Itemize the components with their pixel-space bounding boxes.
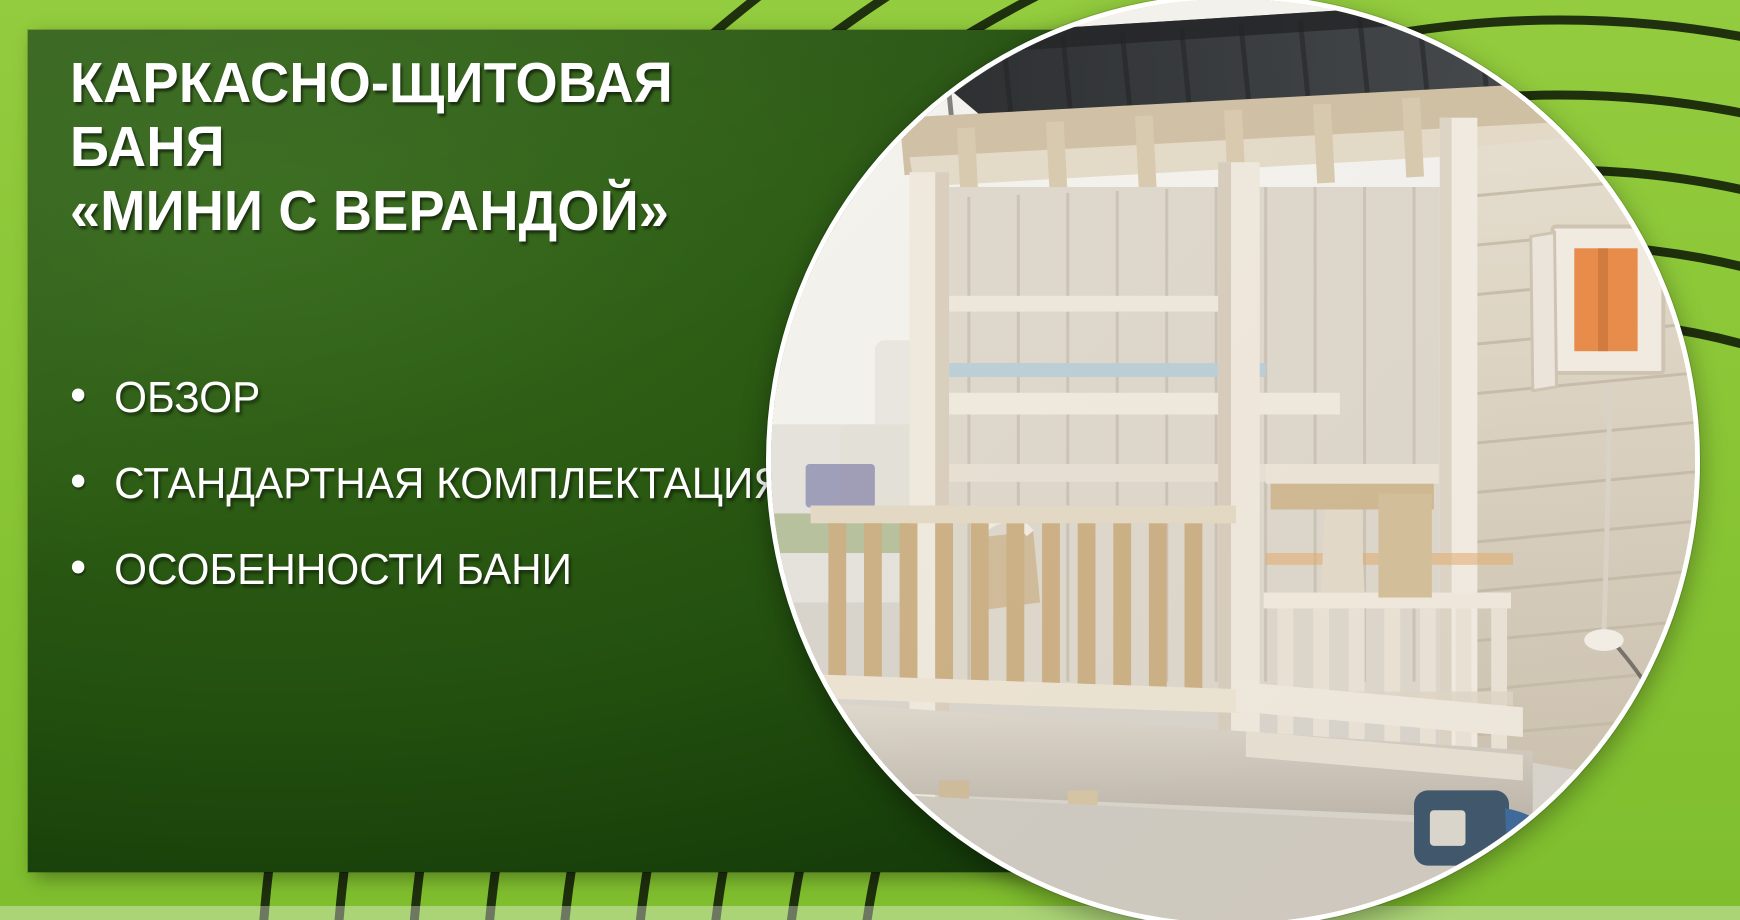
agenda-list: ОБЗОР СТАНДАРТНАЯ КОМПЛЕКТАЦИЯ ОСОБЕННОС… (70, 372, 870, 630)
list-item-label: ОСОБЕННОСТИ БАНИ (114, 544, 838, 596)
list-item-label: СТАНДАРТНАЯ КОМПЛЕКТАЦИЯ (114, 458, 838, 510)
title-line-2: БАНЯ (70, 116, 792, 180)
slide-canvas: КАРКАСНО-ЩИТОВАЯ БАНЯ «МИНИ С ВЕРАНДОЙ» … (0, 0, 1740, 920)
bullet-dot-icon (72, 388, 84, 401)
page-title: КАРКАСНО-ЩИТОВАЯ БАНЯ «МИНИ С ВЕРАНДОЙ» (70, 52, 792, 243)
list-item-label: ОБЗОР (114, 372, 838, 424)
list-item: ОБЗОР (70, 372, 838, 424)
sauna-photo (766, 0, 1700, 920)
title-block: КАРКАСНО-ЩИТОВАЯ БАНЯ «МИНИ С ВЕРАНДОЙ» (70, 52, 830, 243)
list-item: СТАНДАРТНАЯ КОМПЛЕКТАЦИЯ (70, 458, 838, 510)
title-line-1: КАРКАСНО-ЩИТОВАЯ (70, 52, 792, 116)
list-item: ОСОБЕННОСТИ БАНИ (70, 544, 838, 596)
title-line-3: «МИНИ С ВЕРАНДОЙ» (70, 180, 792, 244)
bullet-dot-icon (72, 474, 84, 487)
bullet-dot-icon (72, 560, 84, 573)
